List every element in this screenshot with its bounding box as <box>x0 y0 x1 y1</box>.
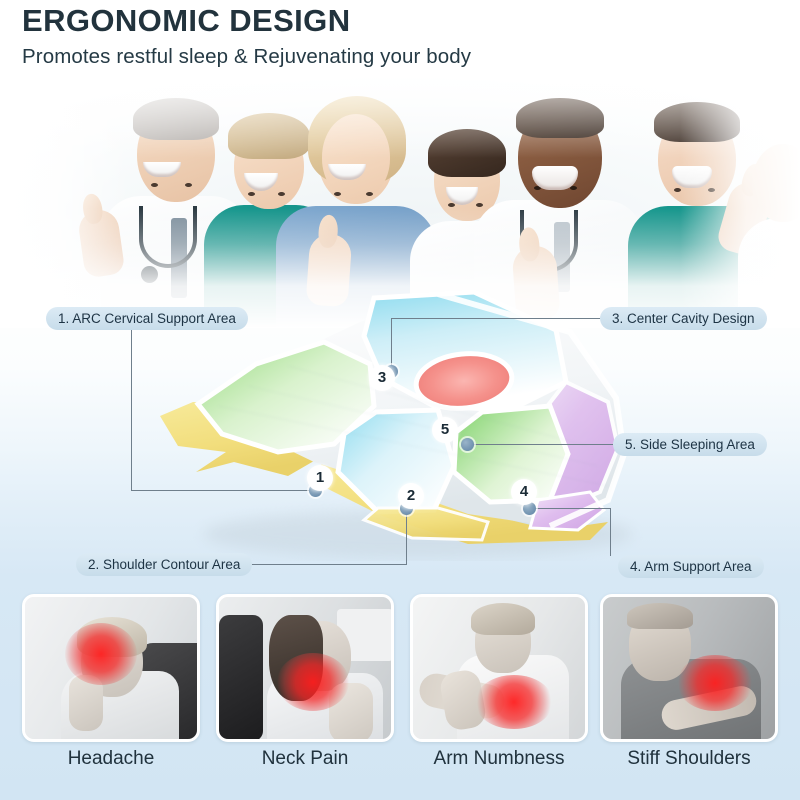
leader-line-1-v <box>131 330 132 490</box>
page-title: ERGONOMIC DESIGN <box>22 0 471 39</box>
callout-dot-5[interactable] <box>461 438 474 451</box>
callout-marker-2[interactable]: 2 <box>398 483 424 509</box>
symptom-card-headache[interactable] <box>22 594 200 742</box>
header: ERGONOMIC DESIGN Promotes restful sleep … <box>22 0 471 71</box>
callout-label-1[interactable]: 1. ARC Cervical Support Area <box>46 307 248 330</box>
symptom-caption-neck-pain: Neck Pain <box>216 746 394 772</box>
symptom-caption-arm-numbness: Arm Numbness <box>410 746 588 772</box>
leader-line-3-v <box>391 318 392 370</box>
callout-marker-1[interactable]: 1 <box>307 465 333 491</box>
leader-line-1-h <box>131 490 316 491</box>
symptom-photo-neck-pain <box>219 597 391 739</box>
leader-line-2-v <box>406 508 407 565</box>
leader-line-4-v <box>610 508 611 556</box>
symptom-caption-stiff-shoulders: Stiff Shoulders <box>600 746 778 772</box>
doctors-photo-band <box>0 38 800 328</box>
symptom-caption-headache: Headache <box>22 746 200 772</box>
symptom-photo-arm-numbness <box>413 597 585 739</box>
symptom-photo-stiff-shoulders <box>603 597 775 739</box>
page-subtitle: Promotes restful sleep & Rejuvenating yo… <box>22 39 471 71</box>
callout-marker-4[interactable]: 4 <box>511 479 537 505</box>
symptom-photo-headache <box>25 597 197 739</box>
callout-label-4[interactable]: 4. Arm Support Area <box>618 555 764 578</box>
symptom-card-neck-pain[interactable] <box>216 594 394 742</box>
leader-line-4-h <box>532 508 610 509</box>
callout-label-2[interactable]: 2. Shoulder Contour Area <box>76 553 252 576</box>
leader-line-3-h <box>391 318 600 319</box>
symptom-card-stiff-shoulders[interactable] <box>600 594 778 742</box>
leader-line-2-h <box>228 564 406 565</box>
callout-label-5[interactable]: 5. Side Sleeping Area <box>613 433 767 456</box>
infographic-page: ERGONOMIC DESIGN Promotes restful sleep … <box>0 0 800 800</box>
callout-marker-3[interactable]: 3 <box>369 365 395 391</box>
leader-line-5-h <box>470 444 613 445</box>
symptom-card-row: Headache Neck Pain <box>0 594 800 800</box>
callout-marker-5[interactable]: 5 <box>432 417 458 443</box>
callout-label-3[interactable]: 3. Center Cavity Design <box>600 307 767 330</box>
symptom-card-arm-numbness[interactable] <box>410 594 588 742</box>
